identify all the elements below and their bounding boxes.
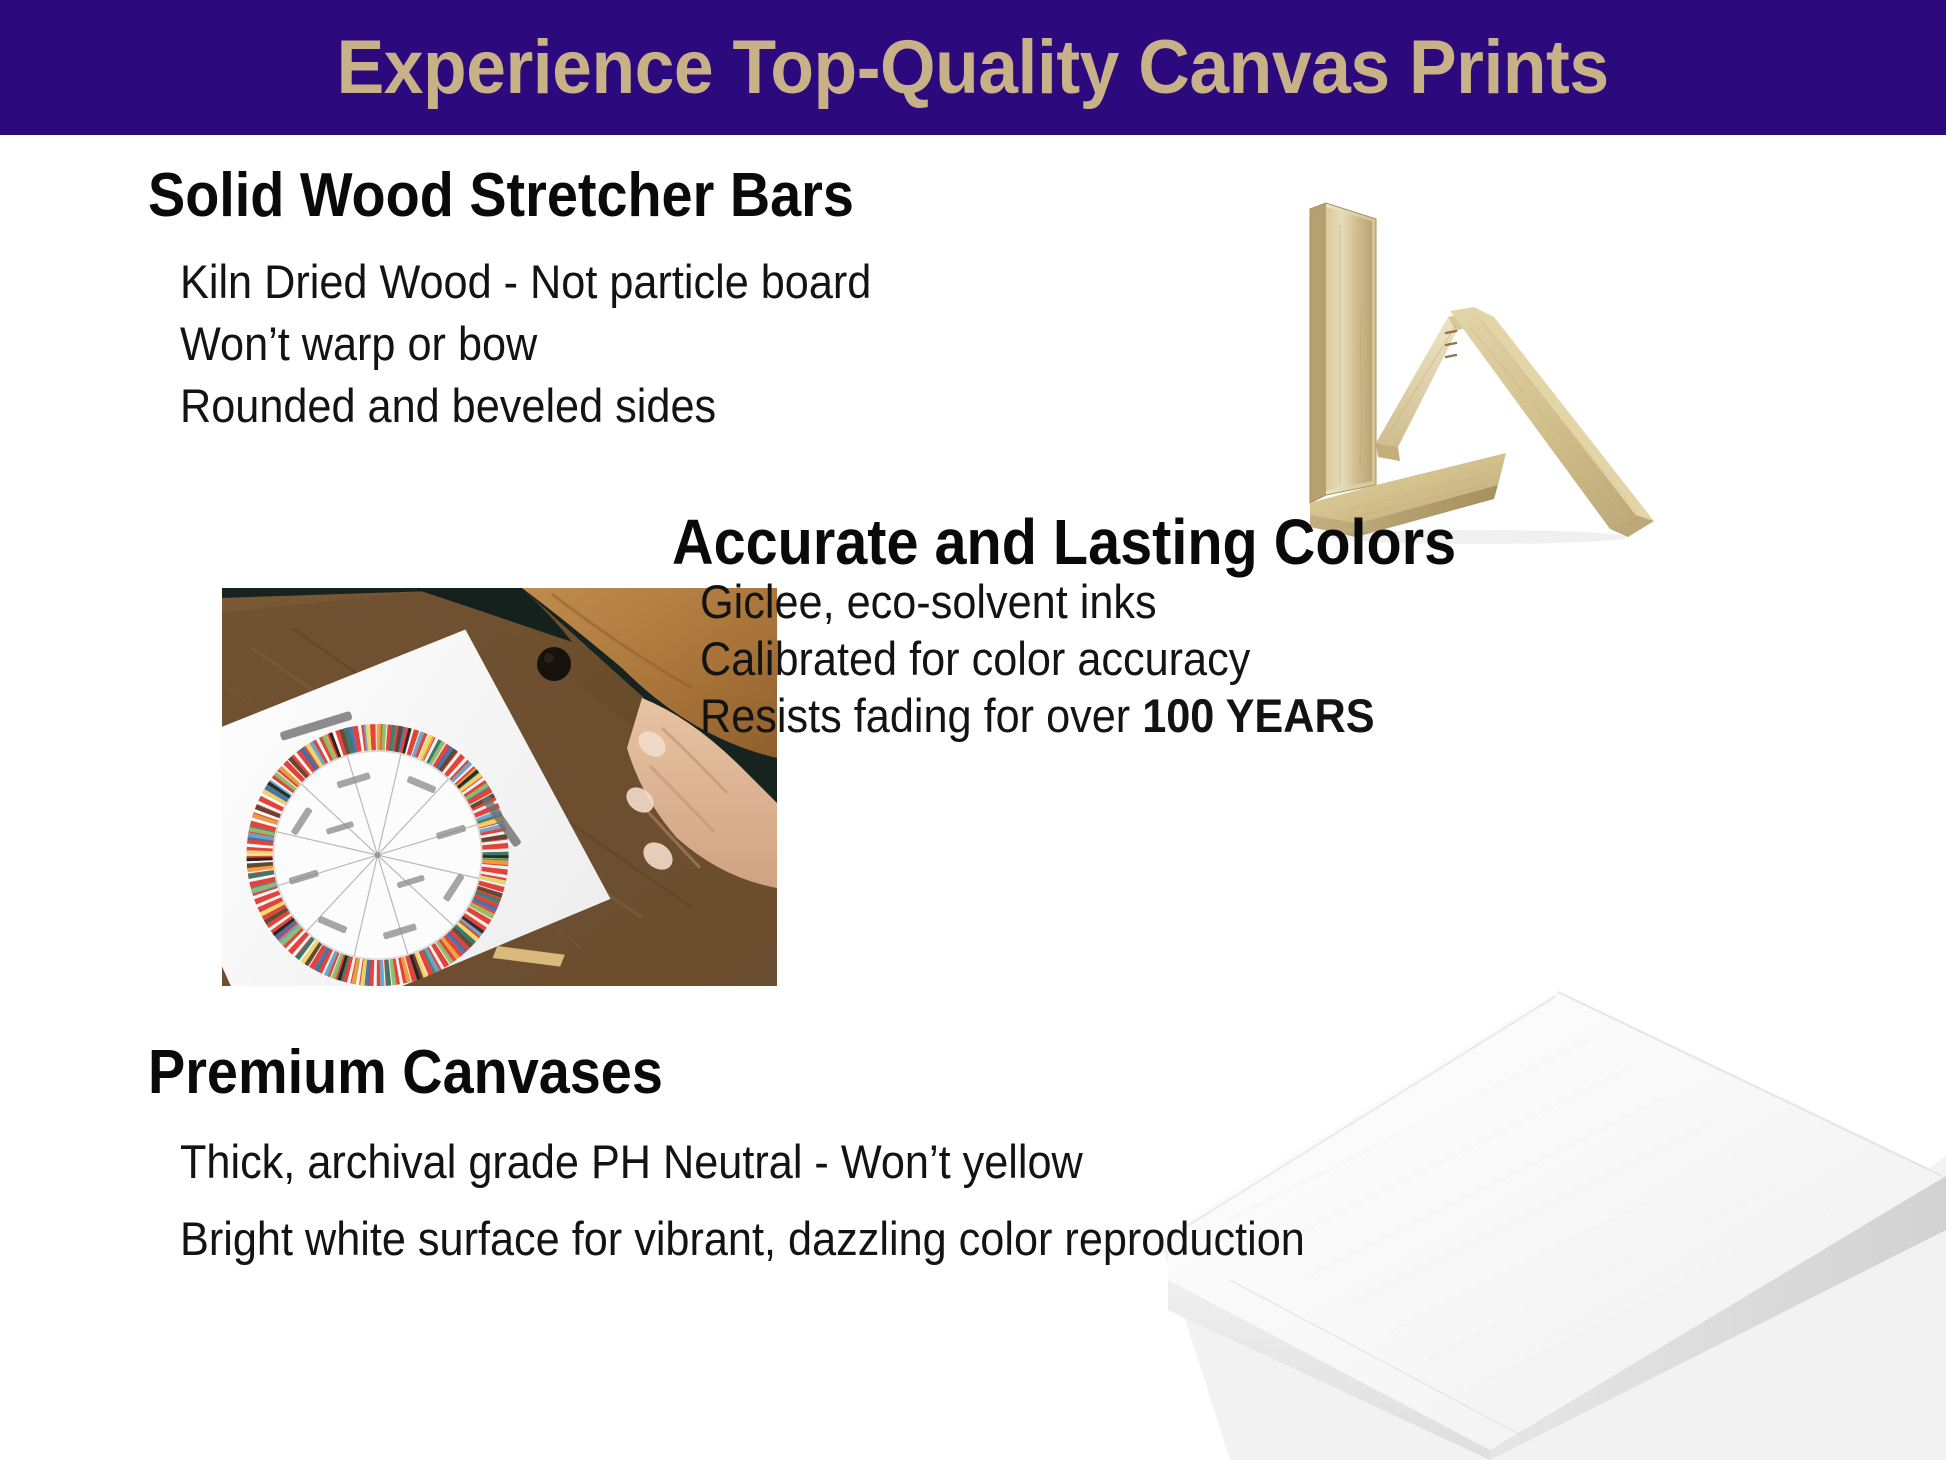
bullet-100-years-emphasis: 100 YEARS bbox=[1142, 689, 1374, 742]
bullet-giclee-eco-solvent-inks: Giclee, eco-solvent inks bbox=[700, 578, 1157, 625]
canvas-prints-infographic: Experience Top-Quality Canvas Prints Sol… bbox=[0, 0, 1946, 1460]
bullet-calibrated-for-color-accuracy: Calibrated for color accuracy bbox=[700, 635, 1250, 682]
section-heading-solid-wood-stretcher-bars: Solid Wood Stretcher Bars bbox=[148, 165, 854, 227]
bullet-thick-archival-ph-neutral: Thick, archival grade PH Neutral - Won’t… bbox=[180, 1138, 1083, 1185]
wood-stretcher-bars-photo bbox=[1288, 185, 1688, 555]
bullet-resists-fading-100-years: Resists fading for over 100 YEARS bbox=[700, 692, 1375, 739]
section-heading-accurate-and-lasting-colors: Accurate and Lasting Colors bbox=[672, 510, 1456, 574]
bullet-bright-white-surface: Bright white surface for vibrant, dazzli… bbox=[180, 1215, 1305, 1262]
bullet-kiln-dried-wood: Kiln Dried Wood - Not particle board bbox=[180, 258, 871, 305]
color-wheel-photo bbox=[222, 588, 777, 986]
header-banner: Experience Top-Quality Canvas Prints bbox=[0, 0, 1946, 135]
bullet-resists-fading-prefix: Resists fading for over bbox=[700, 689, 1142, 742]
bullet-wont-warp-or-bow: Won’t warp or bow bbox=[180, 320, 537, 367]
banner-title: Experience Top-Quality Canvas Prints bbox=[337, 30, 1609, 106]
section-heading-premium-canvases: Premium Canvases bbox=[148, 1042, 663, 1104]
bullet-rounded-beveled-sides: Rounded and beveled sides bbox=[180, 382, 716, 429]
